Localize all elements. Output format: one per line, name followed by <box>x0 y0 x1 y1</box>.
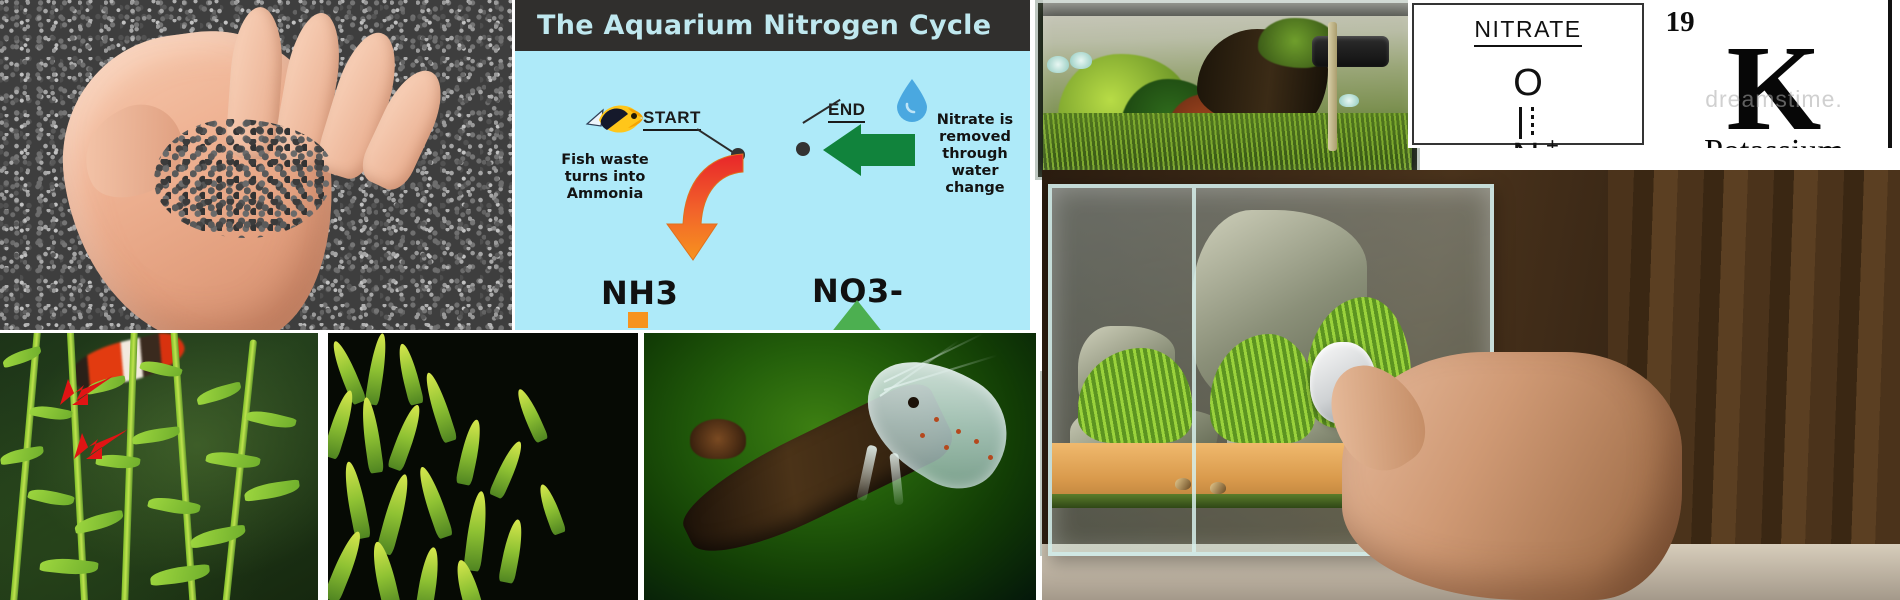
stem-plant-new-growth-photo <box>0 333 318 600</box>
amano-shrimp-on-driftwood-photo <box>644 333 1036 600</box>
caption-line: removed <box>927 129 1023 146</box>
green-up-arrow-icon <box>830 300 884 330</box>
caption-line: Ammonia <box>545 186 665 203</box>
caption-line: change <box>927 180 1023 197</box>
water-drop-icon <box>895 78 929 127</box>
caption-line: Fish waste <box>545 152 665 169</box>
bushy-stem-plant-macro-photo <box>328 333 638 600</box>
caption-line: through <box>927 146 1023 163</box>
diagram-header-bar: The Aquarium Nitrogen Cycle <box>515 0 1030 51</box>
red-arrow-annotation-top <box>58 375 114 422</box>
shrimp-marking <box>944 445 949 450</box>
ammonia-formula: NH3 <box>601 274 678 312</box>
hand-cleaning-nano-aquarium-photo <box>1042 170 1900 600</box>
plant-needle <box>395 342 425 406</box>
tank-glass-frame <box>1035 0 1420 180</box>
red-arrow-annotation-bottom <box>72 429 128 476</box>
shrimp-marking <box>920 433 925 438</box>
planted-aquarium-photo-top <box>1035 0 1420 180</box>
plant-needle <box>414 464 453 539</box>
caption-line: Nitrate is <box>927 112 1023 129</box>
nerite-snail <box>1175 478 1191 490</box>
nitrate-removal-caption: Nitrate is removed through water change <box>927 112 1023 198</box>
element-symbol: K <box>1648 33 1900 145</box>
plant-needle <box>421 370 458 443</box>
soil-granule-pile <box>154 119 333 238</box>
caption-line: turns into <box>545 169 665 186</box>
start-label: START <box>643 108 701 131</box>
shrimp-marking <box>988 455 993 460</box>
image-collage: The Aquarium Nitrogen Cycle START Fish w… <box>0 0 1900 600</box>
shrimp-marking <box>974 439 979 444</box>
shrimp-marking <box>956 429 961 434</box>
shrimp-eye <box>908 397 919 408</box>
nerite-snail <box>1210 482 1226 494</box>
potassium-periodic-element-tile: 19 K Potassium dreamstime. <box>1648 0 1900 148</box>
plant-needle <box>513 387 549 444</box>
dashed-bond-line <box>1531 107 1534 140</box>
plant-needle <box>364 333 389 406</box>
tropical-fish-icon <box>581 96 645 142</box>
nitrate-heading: NITRATE <box>1408 16 1648 43</box>
plant-needle <box>498 518 526 584</box>
plant-needle <box>376 472 414 556</box>
plant-needle <box>328 529 366 600</box>
nitrogen-atom-label: N <box>1512 136 1539 148</box>
orange-arrow-stub-icon <box>628 312 648 328</box>
caption-line: water <box>927 163 1023 180</box>
fish-waste-caption: Fish waste turns into Ammonia <box>545 152 665 203</box>
plant-needle <box>488 439 526 500</box>
plant-needle <box>415 546 442 600</box>
single-bond-line <box>1519 107 1522 140</box>
driftwood-frayed-tip <box>690 419 746 459</box>
oxygen-atom-label: O <box>1513 62 1543 105</box>
plant-needle <box>387 402 425 471</box>
nitrate-heading-text: NITRATE <box>1474 16 1581 47</box>
nitrate-structure-diagram: NITRATE O N + <box>1408 0 1648 148</box>
end-leader-dot <box>796 142 810 156</box>
diagram-title: The Aquarium Nitrogen Cycle <box>537 10 991 41</box>
tile-right-rule <box>1888 0 1892 148</box>
positive-charge-label: + <box>1546 133 1559 148</box>
plant-needle <box>341 460 372 540</box>
aquarium-nitrogen-cycle-diagram: The Aquarium Nitrogen Cycle START Fish w… <box>515 0 1030 330</box>
green-arrow-icon <box>819 124 915 176</box>
red-curved-arrow-icon <box>655 138 775 268</box>
plant-needle <box>536 482 567 536</box>
plant-needle <box>455 418 484 486</box>
plant-needle <box>463 490 490 571</box>
element-name: Potassium <box>1648 133 1900 148</box>
plant-needle <box>359 396 384 473</box>
tank-corner-seam <box>1192 188 1196 552</box>
shrimp-marking <box>934 417 939 422</box>
hand-holding-aquarium-soil-photo <box>0 0 512 330</box>
